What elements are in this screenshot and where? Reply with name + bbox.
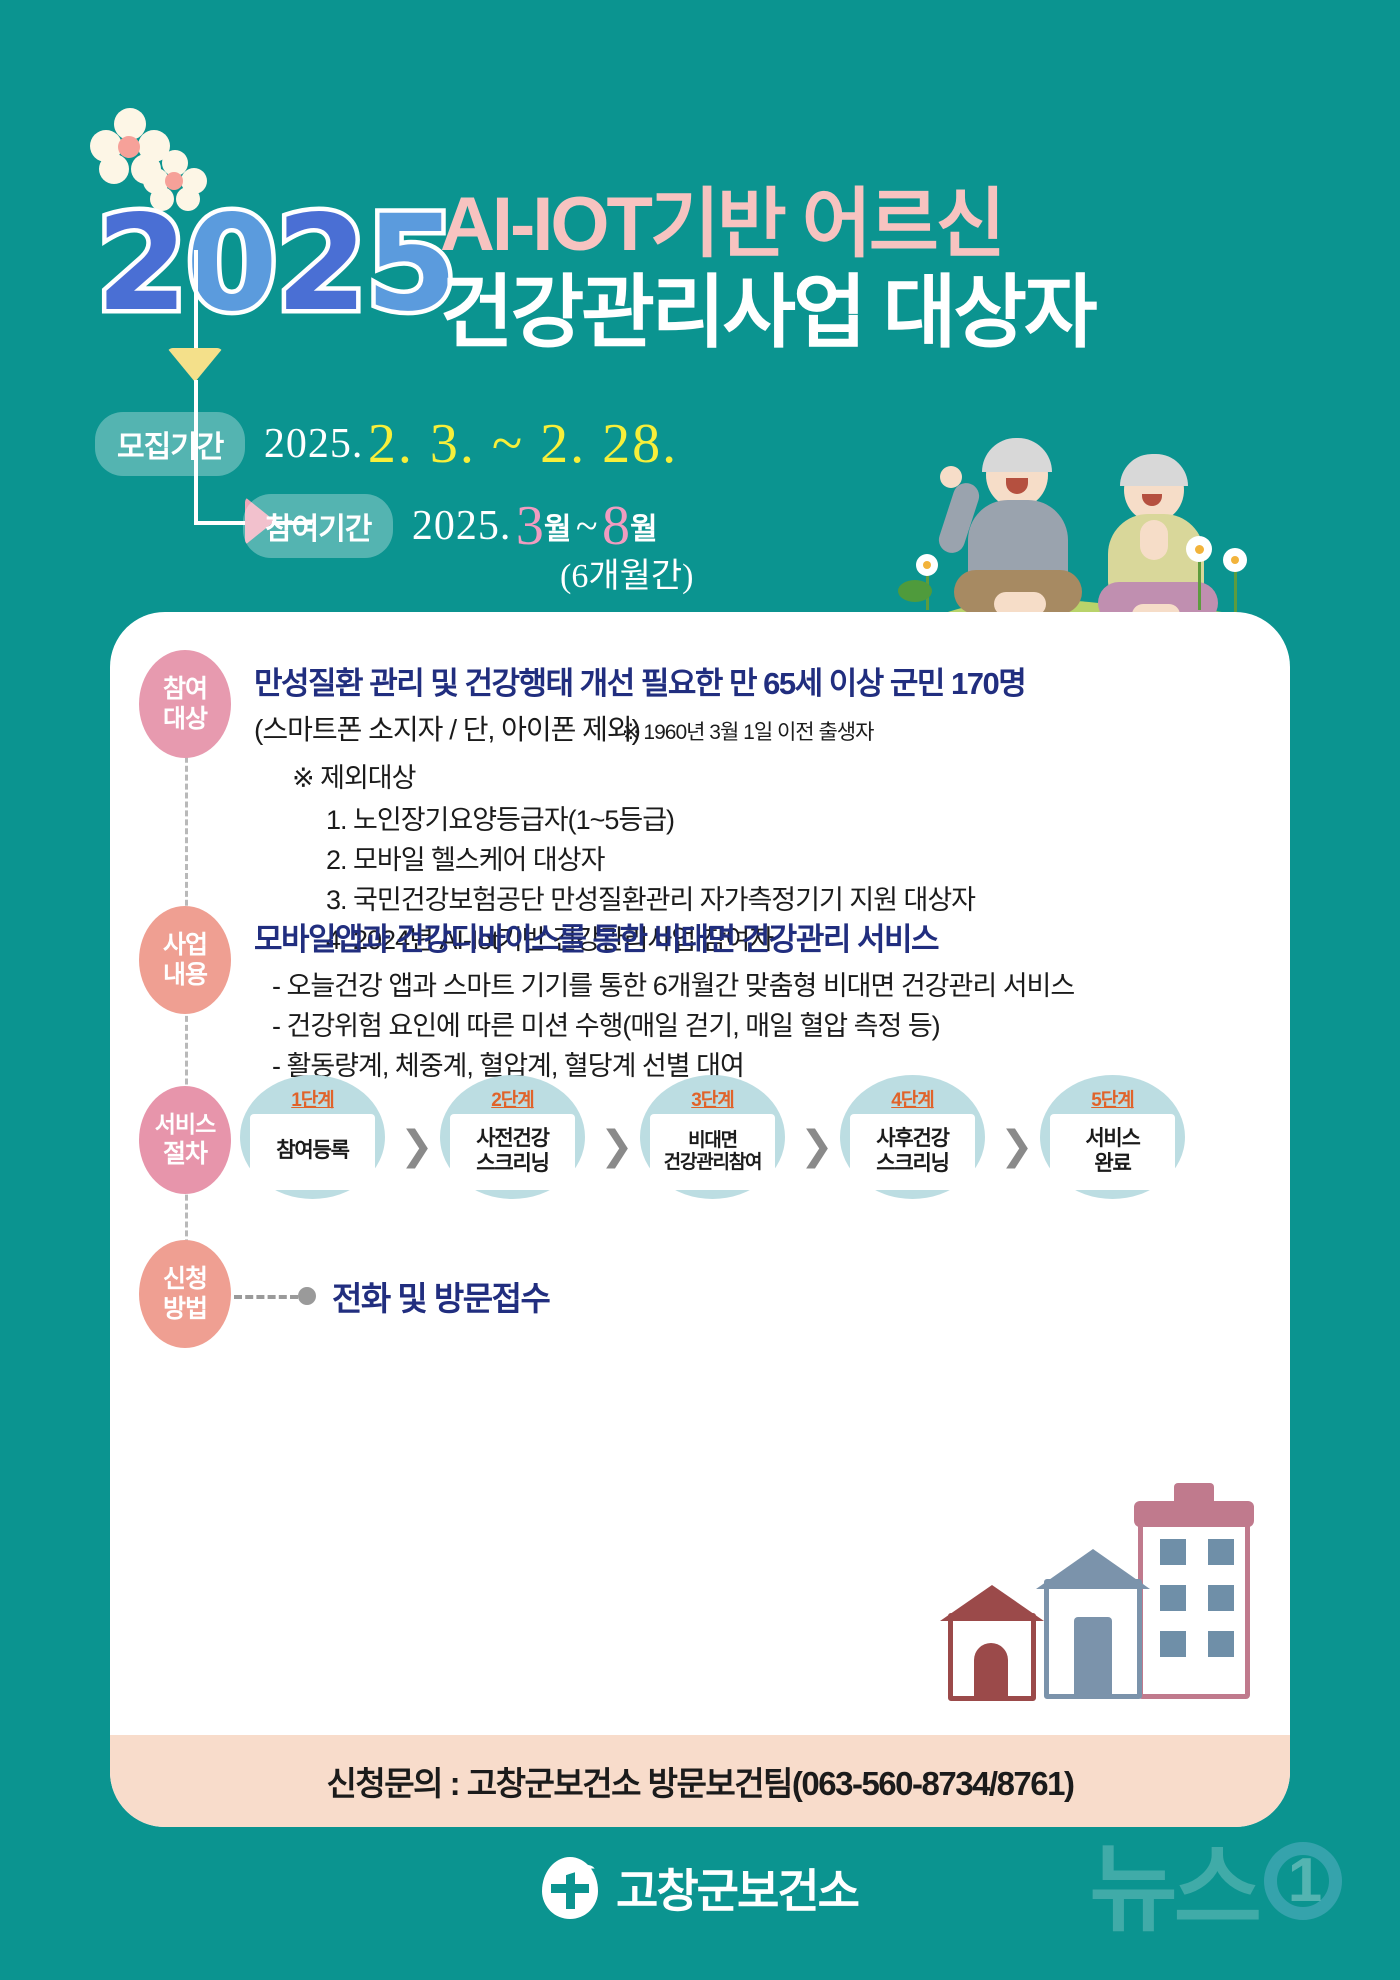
participation-start-unit: 월 xyxy=(544,513,572,546)
connector-line-vertical-top xyxy=(194,250,198,355)
content-bullet-1: - 오늘건강 앱과 스마트 기기를 통한 6개월간 맞춤형 비대면 건강관리 서… xyxy=(272,964,1074,1003)
participation-year: 2025. xyxy=(412,503,512,549)
health-center-logo-icon xyxy=(542,1857,598,1919)
badge-project-content: 사업 내용 xyxy=(139,906,231,1014)
target-heading: 만성질환 관리 및 건강행태 개선 필요한 만 65세 이상 군민 170명 xyxy=(254,658,1025,703)
step-arrow-1: ❯ xyxy=(400,1123,434,1169)
page-title: AI-IOT기반 어르신 건강관리사업 대상자 xyxy=(440,185,1340,355)
watermark-text: 뉴스 xyxy=(1089,1811,1258,1950)
step-3-label: 비대면 건강관리참여 xyxy=(650,1114,775,1190)
exclude-item-1: 1. 노인장기요양등급자(1~5등급) xyxy=(326,798,674,837)
step-arrow-4: ❯ xyxy=(1000,1123,1034,1169)
participation-start-month: 3 xyxy=(516,495,544,557)
step-4-label: 사후건강 스크리닝 xyxy=(850,1114,975,1190)
content-card: 참여 대상 만성질환 관리 및 건강행태 개선 필요한 만 65세 이상 군민 … xyxy=(110,612,1290,1827)
step-4-number: 4단계 xyxy=(891,1085,934,1112)
title-line-2: 건강관리사업 대상자 xyxy=(440,271,1340,355)
content-bullet-2: - 건강위험 요인에 따른 미션 수행(매일 걷기, 매일 혈압 측정 등) xyxy=(272,1004,940,1043)
step-5-label: 서비스 완료 xyxy=(1050,1114,1175,1190)
news1-watermark: 뉴스 1 xyxy=(1089,1811,1342,1950)
badge-target-line2: 대상 xyxy=(163,704,207,734)
process-step-4: 4단계 사후건강 스크리닝 xyxy=(840,1075,985,1199)
participation-tilde: ~ xyxy=(576,504,598,549)
badge-process-line2: 절차 xyxy=(163,1139,207,1169)
step-2-number: 2단계 xyxy=(491,1085,534,1112)
recruitment-period-pill: 모집기간 xyxy=(95,412,245,476)
participation-period-pill: 참여기간 xyxy=(243,494,393,558)
step-2-label: 사전건강 스크리닝 xyxy=(450,1114,575,1190)
step-1-label: 참여등록 xyxy=(250,1114,375,1190)
process-step-5: 5단계 서비스 완료 xyxy=(1040,1075,1185,1199)
recruitment-range: 2. 3. ~ 2. 28. xyxy=(368,413,678,475)
step-5-number: 5단계 xyxy=(1091,1085,1134,1112)
recruitment-year: 2025. xyxy=(264,421,364,467)
step-1-number: 1단계 xyxy=(291,1085,334,1112)
year-heading: 2025 xyxy=(96,198,455,330)
process-step-2: 2단계 사전건강 스크리닝 xyxy=(440,1075,585,1199)
exclude-title: ※ 제외대상 xyxy=(292,756,415,795)
badge-apply-line1: 신청 xyxy=(163,1264,207,1294)
badge-service-process: 서비스 절차 xyxy=(139,1086,231,1194)
step-arrow-2: ❯ xyxy=(600,1123,634,1169)
participation-duration-note: (6개월간) xyxy=(560,548,693,597)
exclude-item-3: 3. 국민건강보험공단 만성질환관리 자가측정기기 지원 대상자 xyxy=(326,878,975,917)
poster-root: 2025 AI-IOT기반 어르신 건강관리사업 대상자 모집기간 2025. … xyxy=(0,0,1400,1980)
process-step-3: 3단계 비대면 건강관리참여 xyxy=(640,1075,785,1199)
houses-illustration xyxy=(920,1517,1250,1717)
badge-target-line1: 참여 xyxy=(163,674,207,704)
target-subnote: (스마트폰 소지자 / 단, 아이폰 제외) xyxy=(254,708,640,748)
organization-name: 고창군보건소 xyxy=(616,1855,858,1921)
apply-label: 전화 및 방문접수 xyxy=(332,1272,549,1320)
recruitment-period-row: 모집기간 2025. 2. 3. ~ 2. 28. xyxy=(95,412,678,476)
badge-process-line1: 서비스 xyxy=(155,1111,215,1139)
badge-content-line1: 사업 xyxy=(163,930,207,960)
badge-apply-line2: 방법 xyxy=(163,1294,207,1324)
target-birth-note: ※ 1960년 3월 1일 이전 출생자 xyxy=(622,716,873,746)
badge-application-method: 신청 방법 xyxy=(139,1240,231,1348)
chevron-down-icon xyxy=(167,348,223,382)
apply-dashed-connector xyxy=(234,1295,298,1299)
watermark-digit: 1 xyxy=(1264,1842,1342,1920)
badge-content-line2: 내용 xyxy=(163,960,207,990)
title-line-1: AI-IOT기반 어르신 xyxy=(440,185,1340,265)
step-3-number: 3단계 xyxy=(691,1085,734,1112)
service-process-steps: 1단계 참여등록 ❯ 2단계 사전건강 스크리닝 ❯ 3단계 비대면 건강관리참… xyxy=(240,1075,1250,1200)
contact-text: 신청문의 : 고창군보건소 방문보건팀(063-560-8734/8761) xyxy=(327,1757,1074,1805)
exclude-item-2: 2. 모바일 헬스케어 대상자 xyxy=(326,838,604,877)
participation-end-unit: 월 xyxy=(630,513,658,546)
apply-connector-dot xyxy=(298,1287,316,1305)
badge-participation-target: 참여 대상 xyxy=(139,650,231,758)
content-heading: 모바일앱과 건강디바이스를 통한 비대면 건강관리 서비스 xyxy=(254,914,938,959)
step-arrow-3: ❯ xyxy=(800,1123,834,1169)
process-step-1: 1단계 참여등록 xyxy=(240,1075,385,1199)
